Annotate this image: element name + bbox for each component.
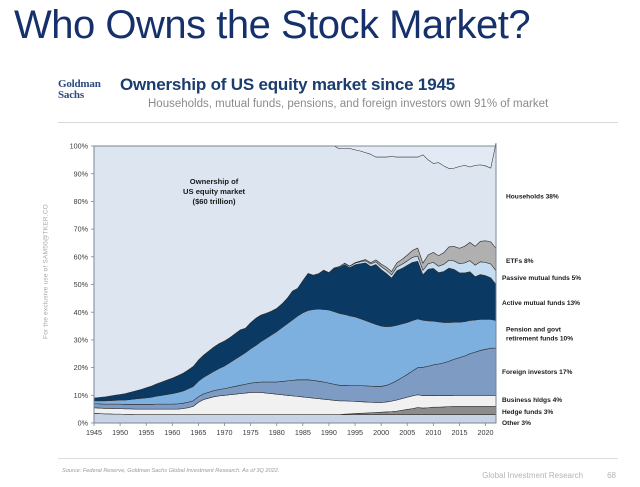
y-tick-label: 20% [74, 363, 89, 372]
header-divider [58, 122, 618, 123]
slide-root: Who Owns the Stock Market? Goldman Sachs… [0, 0, 640, 487]
x-tick-label: 1970 [217, 428, 233, 437]
x-tick-label: 2020 [478, 428, 494, 437]
series-label-other: Other 3% [502, 420, 531, 427]
y-tick-label: 60% [74, 252, 89, 261]
x-tick-label: 1975 [243, 428, 259, 437]
x-tick-label: 2015 [451, 428, 467, 437]
y-tick-label: 10% [74, 391, 89, 400]
logo-line-1: Goldman [58, 79, 116, 90]
logo-line-2: Sachs [58, 90, 116, 101]
x-tick-label: 1995 [347, 428, 363, 437]
x-tick-label: 1980 [269, 428, 285, 437]
footer-label: Global Investment Research [482, 471, 583, 480]
x-tick-label: 1950 [112, 428, 128, 437]
deck-subtitle: Households, mutual funds, pensions, and … [148, 98, 548, 110]
x-tick-label: 2010 [425, 428, 441, 437]
x-tick-label: 2000 [373, 428, 389, 437]
chart-container: 0%10%20%30%40%50%60%70%80%90%100%1945195… [58, 140, 582, 445]
y-tick-label: 70% [74, 225, 89, 234]
goldman-sachs-logo: Goldman Sachs [58, 79, 116, 100]
y-tick-label: 100% [70, 142, 89, 151]
y-tick-label: 40% [74, 308, 89, 317]
footer-divider [58, 458, 618, 459]
x-tick-label: 2005 [399, 428, 415, 437]
deck-title: Ownership of US equity market since 1945 [120, 75, 455, 95]
y-tick-label: 50% [74, 280, 89, 289]
footer-right: Global Investment Research68 [482, 471, 616, 480]
page-title: Who Owns the Stock Market? [14, 2, 530, 48]
stacked-area-chart: 0%10%20%30%40%50%60%70%80%90%100%1945195… [58, 140, 582, 445]
y-tick-label: 0% [78, 419, 89, 428]
series-label-hedge-funds: Hedge funds 3% [502, 409, 553, 416]
y-tick-label: 90% [74, 169, 89, 178]
source-note: Source: Federal Reserve, Goldman Sachs G… [62, 468, 279, 474]
x-tick-label: 1990 [321, 428, 337, 437]
x-tick-label: 1955 [138, 428, 154, 437]
x-tick-label: 1965 [190, 428, 206, 437]
series-label-business-hldgs: Business hldgs 4% [502, 397, 562, 404]
x-tick-label: 1960 [164, 428, 180, 437]
chart-annotation-line: ($60 trillion) [193, 197, 237, 206]
page-number: 68 [607, 471, 616, 480]
series-label-foreign-investors: Foreign investors 17% [502, 369, 572, 376]
y-tick-label: 30% [74, 336, 89, 345]
y-tick-label: 80% [74, 197, 89, 206]
series-label-active-mutual-funds: Active mutual funds 13% [502, 300, 580, 307]
chart-annotation-line: US equity market [183, 187, 246, 196]
series-label-pension-and-govt-retirement-funds: retirement funds 10% [506, 335, 573, 342]
series-label-etfs: ETFs 8% [506, 258, 534, 265]
series-label-households: Households 38% [506, 193, 559, 200]
x-tick-label: 1945 [86, 428, 102, 437]
chart-annotation-line: Ownership of [190, 177, 239, 186]
exclusive-use-watermark: For the exclusive use of SAM50@TKER.CO [43, 187, 50, 357]
x-tick-label: 1985 [295, 428, 311, 437]
series-label-passive-mutual-funds: Passive mutual funds 5% [502, 275, 581, 282]
series-label-pension-and-govt-retirement-funds: Pension and govt [506, 326, 562, 333]
